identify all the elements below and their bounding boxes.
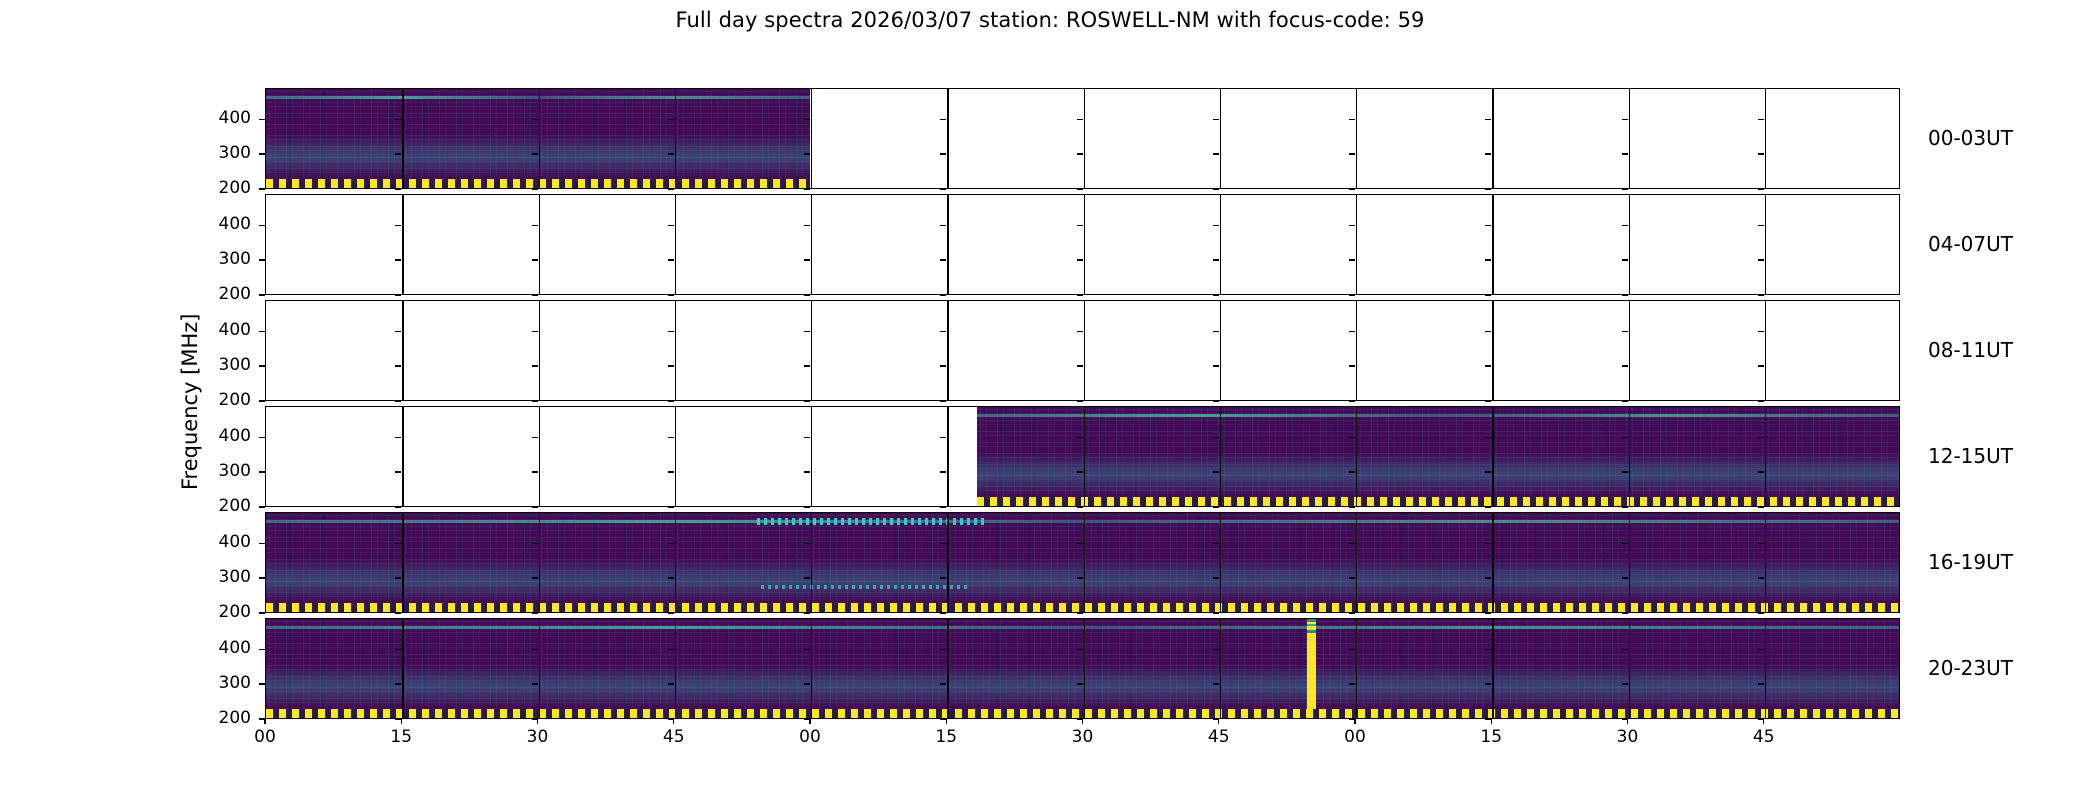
x-tick-label: 30 xyxy=(1608,727,1648,747)
panel-gridline xyxy=(1084,513,1085,612)
emission-band xyxy=(977,453,1900,495)
panel-gridline xyxy=(1629,407,1630,506)
panel-gridline xyxy=(1629,89,1630,188)
y-tick-mark-inner xyxy=(395,365,401,366)
panel-gridline xyxy=(1492,619,1493,718)
x-tick-mark xyxy=(401,719,402,724)
y-tick-mark-inner xyxy=(1077,188,1083,189)
y-tick-mark-inner xyxy=(1213,188,1219,189)
y-tick-mark-inner xyxy=(1485,649,1491,650)
y-tick-mark-inner xyxy=(940,506,946,507)
y-tick-mark-inner xyxy=(395,683,401,684)
panel-gridline xyxy=(811,619,812,718)
y-tick-mark-inner xyxy=(1758,437,1764,438)
y-tick-mark-inner xyxy=(1213,471,1219,472)
panel-gridline xyxy=(811,513,812,612)
y-tick-mark xyxy=(259,119,265,120)
x-tick-mark xyxy=(537,719,538,724)
y-tick-mark-inner xyxy=(395,225,401,226)
y-tick-mark-inner xyxy=(940,294,946,295)
y-tick-mark-inner xyxy=(1622,119,1628,120)
y-tick-mark-inner xyxy=(668,331,674,332)
panel-gridline xyxy=(1492,89,1493,188)
y-tick-mark-inner xyxy=(1485,188,1491,189)
panel-gridline xyxy=(947,407,948,506)
y-tick-mark-inner xyxy=(668,153,674,154)
y-tick-mark-inner xyxy=(532,365,538,366)
panel-gridline xyxy=(811,195,812,294)
y-tick-mark-inner xyxy=(532,259,538,260)
y-tick-mark-inner xyxy=(1077,153,1083,154)
y-tick-mark-inner xyxy=(668,365,674,366)
y-tick-label: 400 xyxy=(205,638,251,658)
panel-gridline xyxy=(539,89,540,188)
row-label-04-07ut: 04-07UT xyxy=(1928,232,2013,256)
row-label-00-03ut: 00-03UT xyxy=(1928,126,2013,150)
y-tick-label: 300 xyxy=(205,249,251,269)
panel-gridline xyxy=(539,407,540,506)
panel-gridline xyxy=(1084,89,1085,188)
panel-gridline xyxy=(1629,619,1630,718)
interference-dots-upper xyxy=(757,518,986,525)
y-tick-mark-inner xyxy=(1213,400,1219,401)
y-tick-mark-inner xyxy=(1758,649,1764,650)
y-tick-mark-inner xyxy=(1213,331,1219,332)
y-tick-mark-inner xyxy=(1213,649,1219,650)
panel-gridline xyxy=(1629,195,1630,294)
y-tick-mark-inner xyxy=(395,153,401,154)
x-tick-label: 45 xyxy=(654,727,694,747)
panel-gridline xyxy=(1356,407,1357,506)
y-tick-mark xyxy=(259,400,265,401)
y-tick-mark-inner xyxy=(1213,437,1219,438)
x-tick-mark xyxy=(1218,719,1219,724)
y-tick-mark-inner xyxy=(668,294,674,295)
y-tick-mark-inner xyxy=(1077,437,1083,438)
x-tick-mark xyxy=(1082,719,1083,724)
y-tick-mark-inner xyxy=(668,437,674,438)
y-tick-mark-inner xyxy=(532,649,538,650)
y-tick-label: 200 xyxy=(205,178,251,198)
y-tick-mark-inner xyxy=(1077,649,1083,650)
y-tick-mark-inner xyxy=(1213,294,1219,295)
y-tick-mark xyxy=(259,331,265,332)
y-tick-mark-inner xyxy=(1213,153,1219,154)
y-tick-mark-inner xyxy=(1758,119,1764,120)
y-tick-mark-inner xyxy=(1758,612,1764,613)
y-tick-mark-inner xyxy=(1349,365,1355,366)
y-tick-mark-inner xyxy=(940,259,946,260)
y-tick-mark-inner xyxy=(395,471,401,472)
panel-gridline xyxy=(539,619,540,718)
panel-gridline xyxy=(1356,301,1357,400)
panel-12-15ut xyxy=(265,406,1900,507)
panel-gridline xyxy=(539,513,540,612)
panel-gridline xyxy=(1765,301,1766,400)
y-tick-mark-inner xyxy=(804,294,810,295)
y-tick-mark-inner xyxy=(532,683,538,684)
panel-gridline xyxy=(402,619,403,718)
y-tick-mark-inner xyxy=(395,506,401,507)
y-tick-mark-inner xyxy=(1349,683,1355,684)
spectrogram-image xyxy=(977,407,1900,506)
y-tick-mark xyxy=(259,259,265,260)
panel-gridline xyxy=(402,301,403,400)
figure-title: Full day spectra 2026/03/07 station: ROS… xyxy=(0,8,2100,32)
y-tick-label: 300 xyxy=(205,143,251,163)
panel-gridline xyxy=(1356,619,1357,718)
y-tick-label: 200 xyxy=(205,284,251,304)
panel-gridline xyxy=(1765,407,1766,506)
y-tick-mark-inner xyxy=(1077,331,1083,332)
y-tick-mark xyxy=(259,188,265,189)
y-tick-mark-inner xyxy=(532,294,538,295)
y-tick-mark-inner xyxy=(1349,188,1355,189)
y-tick-mark-inner xyxy=(1758,153,1764,154)
y-tick-mark-inner xyxy=(532,119,538,120)
panel-gridline xyxy=(811,301,812,400)
x-tick-mark xyxy=(1354,719,1355,724)
y-tick-mark-inner xyxy=(1077,365,1083,366)
panel-gridline xyxy=(947,513,948,612)
y-tick-mark-inner xyxy=(940,649,946,650)
panel-gridline xyxy=(1629,301,1630,400)
panel-gridline xyxy=(402,407,403,506)
y-tick-mark-inner xyxy=(1485,400,1491,401)
panel-gridline xyxy=(947,619,948,718)
y-tick-mark-inner xyxy=(804,188,810,189)
y-tick-mark-inner xyxy=(1349,119,1355,120)
panel-gridline xyxy=(1220,619,1221,718)
y-tick-mark-inner xyxy=(1485,153,1491,154)
y-tick-mark-inner xyxy=(1213,119,1219,120)
y-tick-mark-inner xyxy=(1622,400,1628,401)
y-tick-mark-inner xyxy=(1077,294,1083,295)
y-tick-mark-inner xyxy=(532,153,538,154)
y-tick-mark-inner xyxy=(1213,543,1219,544)
burst-top-cap xyxy=(1307,619,1315,635)
y-tick-mark-inner xyxy=(1077,543,1083,544)
y-tick-mark-inner xyxy=(940,119,946,120)
row-label-20-23ut: 20-23UT xyxy=(1928,656,2013,680)
y-tick-label: 400 xyxy=(205,426,251,446)
y-tick-mark-inner xyxy=(940,188,946,189)
row-label-12-15ut: 12-15UT xyxy=(1928,444,2013,468)
y-tick-mark-inner xyxy=(1622,471,1628,472)
panel-gridline xyxy=(675,89,676,188)
y-tick-mark-inner xyxy=(1213,506,1219,507)
y-tick-mark-inner xyxy=(1758,471,1764,472)
y-tick-mark xyxy=(259,437,265,438)
y-tick-mark-inner xyxy=(940,331,946,332)
y-tick-mark-inner xyxy=(1349,612,1355,613)
y-tick-mark-inner xyxy=(1485,259,1491,260)
row-label-08-11ut: 08-11UT xyxy=(1928,338,2013,362)
x-tick-mark xyxy=(1491,719,1492,724)
y-tick-label: 300 xyxy=(205,461,251,481)
y-tick-mark-inner xyxy=(804,612,810,613)
y-tick-mark-inner xyxy=(804,365,810,366)
frequency-marker-line xyxy=(977,497,1900,506)
panel-gridline xyxy=(947,89,948,188)
x-tick-mark xyxy=(946,719,947,724)
panel-04-07ut xyxy=(265,194,1900,295)
y-tick-mark xyxy=(259,577,265,578)
y-tick-mark-inner xyxy=(395,294,401,295)
y-tick-mark-inner xyxy=(532,471,538,472)
y-tick-mark-inner xyxy=(1213,259,1219,260)
y-tick-mark-inner xyxy=(668,612,674,613)
y-tick-mark-inner xyxy=(1758,188,1764,189)
panel-gridline xyxy=(1220,89,1221,188)
y-tick-mark-inner xyxy=(668,400,674,401)
y-tick-mark-inner xyxy=(1622,153,1628,154)
x-tick-mark xyxy=(1627,719,1628,724)
y-tick-mark-inner xyxy=(395,577,401,578)
y-tick-mark-inner xyxy=(940,471,946,472)
y-tick-label: 300 xyxy=(205,673,251,693)
panel-gridline xyxy=(1492,301,1493,400)
y-tick-mark-inner xyxy=(1622,294,1628,295)
y-tick-mark-inner xyxy=(804,471,810,472)
x-tick-label: 15 xyxy=(1471,727,1511,747)
panel-gridline xyxy=(1084,301,1085,400)
panel-gridline xyxy=(402,195,403,294)
y-tick-label: 400 xyxy=(205,108,251,128)
y-tick-mark-inner xyxy=(1077,683,1083,684)
panel-gridline xyxy=(1765,195,1766,294)
y-tick-mark-inner xyxy=(1349,437,1355,438)
y-tick-mark-inner xyxy=(1485,225,1491,226)
y-tick-mark-inner xyxy=(804,259,810,260)
y-tick-mark-inner xyxy=(1758,225,1764,226)
y-tick-mark-inner xyxy=(1213,225,1219,226)
x-tick-mark xyxy=(264,719,265,724)
y-tick-mark-inner xyxy=(532,437,538,438)
y-tick-mark-inner xyxy=(1349,649,1355,650)
x-tick-label: 45 xyxy=(1199,727,1239,747)
y-tick-mark-inner xyxy=(1622,188,1628,189)
y-tick-mark-inner xyxy=(940,543,946,544)
y-tick-mark-inner xyxy=(1485,612,1491,613)
y-tick-label: 400 xyxy=(205,320,251,340)
y-tick-mark-inner xyxy=(1622,649,1628,650)
y-tick-mark-inner xyxy=(1485,543,1491,544)
y-tick-mark-inner xyxy=(1349,400,1355,401)
y-axis-label: Frequency [MHz] xyxy=(178,460,202,490)
y-tick-mark-inner xyxy=(395,331,401,332)
y-tick-mark xyxy=(259,683,265,684)
x-tick-mark xyxy=(1763,719,1764,724)
y-tick-mark-inner xyxy=(804,119,810,120)
y-tick-label: 400 xyxy=(205,214,251,234)
panel-gridline xyxy=(1084,619,1085,718)
x-tick-label: 30 xyxy=(518,727,558,747)
panel-gridline xyxy=(675,513,676,612)
y-tick-mark-inner xyxy=(395,612,401,613)
panel-gridline xyxy=(1220,407,1221,506)
y-tick-label: 400 xyxy=(205,532,251,552)
y-tick-mark-inner xyxy=(1758,577,1764,578)
y-tick-mark-inner xyxy=(940,365,946,366)
y-tick-mark-inner xyxy=(668,577,674,578)
y-tick-mark-inner xyxy=(1077,225,1083,226)
y-tick-mark xyxy=(259,365,265,366)
y-tick-mark-inner xyxy=(940,612,946,613)
y-tick-mark-inner xyxy=(1349,259,1355,260)
y-tick-mark-inner xyxy=(1485,577,1491,578)
y-tick-mark-inner xyxy=(804,543,810,544)
y-tick-mark-inner xyxy=(532,225,538,226)
y-tick-mark-inner xyxy=(1349,543,1355,544)
y-tick-mark-inner xyxy=(804,649,810,650)
panel-gridline xyxy=(539,195,540,294)
y-tick-mark-inner xyxy=(668,188,674,189)
y-tick-mark-inner xyxy=(1622,259,1628,260)
y-tick-mark-inner xyxy=(1622,331,1628,332)
y-tick-mark-inner xyxy=(1349,294,1355,295)
y-tick-mark-inner xyxy=(532,400,538,401)
panel-gridline xyxy=(1084,407,1085,506)
y-tick-mark-inner xyxy=(1758,294,1764,295)
y-tick-mark-inner xyxy=(1213,683,1219,684)
y-tick-mark-inner xyxy=(395,543,401,544)
x-tick-mark xyxy=(673,719,674,724)
saturation-burst xyxy=(1307,619,1315,718)
x-tick-label: 00 xyxy=(245,727,285,747)
spectra-figure: Full day spectra 2026/03/07 station: ROS… xyxy=(0,0,2100,800)
y-tick-mark-inner xyxy=(1213,365,1219,366)
y-tick-mark-inner xyxy=(395,259,401,260)
panel-gridline xyxy=(402,513,403,612)
y-tick-mark xyxy=(259,506,265,507)
y-tick-mark-inner xyxy=(940,400,946,401)
y-tick-mark-inner xyxy=(668,543,674,544)
y-tick-mark xyxy=(259,153,265,154)
y-tick-mark-inner xyxy=(668,649,674,650)
y-tick-mark-inner xyxy=(1622,612,1628,613)
y-tick-mark-inner xyxy=(804,577,810,578)
y-tick-label: 300 xyxy=(205,567,251,587)
x-tick-mark xyxy=(809,719,810,724)
y-tick-mark-inner xyxy=(1349,506,1355,507)
x-tick-label: 45 xyxy=(1744,727,1784,747)
y-tick-mark-inner xyxy=(1349,331,1355,332)
y-tick-mark-inner xyxy=(1077,119,1083,120)
x-tick-label: 30 xyxy=(1063,727,1103,747)
y-tick-mark-inner xyxy=(395,437,401,438)
y-tick-mark-inner xyxy=(1213,577,1219,578)
y-tick-label: 200 xyxy=(205,496,251,516)
panel-gridline xyxy=(675,301,676,400)
y-tick-mark-inner xyxy=(1758,506,1764,507)
y-tick-mark-inner xyxy=(1622,506,1628,507)
panel-gridline xyxy=(539,301,540,400)
y-tick-mark-inner xyxy=(668,471,674,472)
y-tick-mark-inner xyxy=(668,119,674,120)
panel-16-19ut xyxy=(265,512,1900,613)
panel-gridline xyxy=(1765,89,1766,188)
y-tick-mark-inner xyxy=(1622,683,1628,684)
panel-gridline xyxy=(1356,195,1357,294)
panel-gridline xyxy=(675,619,676,718)
y-tick-mark-inner xyxy=(1485,437,1491,438)
y-tick-mark-inner xyxy=(668,259,674,260)
y-tick-label: 300 xyxy=(205,355,251,375)
y-tick-mark-inner xyxy=(1485,365,1491,366)
interference-dots-lower xyxy=(761,585,972,589)
y-tick-mark-inner xyxy=(804,506,810,507)
panel-gridline xyxy=(1220,301,1221,400)
panel-gridline xyxy=(1765,619,1766,718)
panel-gridline xyxy=(1356,513,1357,612)
y-tick-mark-inner xyxy=(1077,400,1083,401)
y-tick-label: 200 xyxy=(205,602,251,622)
y-tick-mark-inner xyxy=(1758,683,1764,684)
y-tick-mark-inner xyxy=(668,683,674,684)
y-tick-mark-inner xyxy=(532,612,538,613)
y-tick-mark-inner xyxy=(804,225,810,226)
y-tick-mark-inner xyxy=(395,400,401,401)
y-tick-mark-inner xyxy=(1077,577,1083,578)
panel-gridline xyxy=(675,407,676,506)
y-tick-mark-inner xyxy=(1758,259,1764,260)
y-tick-mark xyxy=(259,471,265,472)
panel-gridline xyxy=(1492,407,1493,506)
y-tick-mark-inner xyxy=(1485,506,1491,507)
y-tick-mark-inner xyxy=(1622,365,1628,366)
y-tick-mark-inner xyxy=(1622,577,1628,578)
x-tick-label: 00 xyxy=(1335,727,1375,747)
y-tick-mark xyxy=(259,612,265,613)
panel-gridline xyxy=(947,195,948,294)
y-tick-mark-inner xyxy=(532,331,538,332)
y-tick-mark-inner xyxy=(532,506,538,507)
panel-gridline xyxy=(1492,195,1493,294)
y-tick-mark-inner xyxy=(804,683,810,684)
y-tick-mark-inner xyxy=(1622,437,1628,438)
panel-gridline xyxy=(402,89,403,188)
y-tick-mark-inner xyxy=(1622,543,1628,544)
y-tick-mark-inner xyxy=(1349,153,1355,154)
y-tick-mark-inner xyxy=(1485,471,1491,472)
panel-gridline xyxy=(675,195,676,294)
x-tick-label: 15 xyxy=(926,727,966,747)
y-tick-mark-inner xyxy=(532,188,538,189)
y-tick-mark-inner xyxy=(668,225,674,226)
row-label-16-19ut: 16-19UT xyxy=(1928,550,2013,574)
y-tick-mark-inner xyxy=(1485,294,1491,295)
panel-gridline xyxy=(811,407,812,506)
y-tick-mark xyxy=(259,225,265,226)
y-tick-mark-inner xyxy=(940,437,946,438)
y-tick-mark-inner xyxy=(804,153,810,154)
panel-gridline xyxy=(1765,513,1766,612)
y-tick-mark-inner xyxy=(395,188,401,189)
y-tick-mark-inner xyxy=(940,153,946,154)
x-tick-label: 15 xyxy=(381,727,421,747)
y-tick-mark-inner xyxy=(1349,225,1355,226)
panel-gridline xyxy=(1492,513,1493,612)
y-tick-mark-inner xyxy=(1077,506,1083,507)
y-tick-mark-inner xyxy=(1485,119,1491,120)
y-tick-label: 200 xyxy=(205,708,251,728)
y-tick-mark-inner xyxy=(1077,259,1083,260)
y-tick-mark-inner xyxy=(395,649,401,650)
y-tick-mark-inner xyxy=(804,331,810,332)
y-tick-mark-inner xyxy=(532,577,538,578)
panel-08-11ut xyxy=(265,300,1900,401)
